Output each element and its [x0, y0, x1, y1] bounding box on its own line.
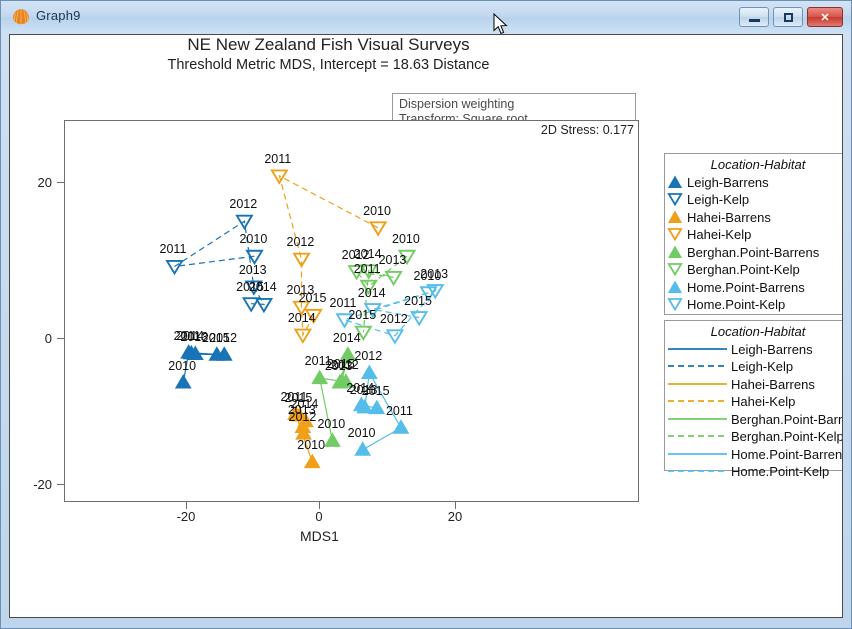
data-point-label: 2015	[362, 384, 390, 398]
legend-line-label: Leigh-Kelp	[731, 359, 793, 375]
line-swatch-solid-icon	[667, 447, 731, 463]
data-point-label: 2012	[380, 312, 408, 326]
graph-window: Graph9 ✕ NE New Zealand Fish Visual Surv…	[0, 0, 852, 629]
data-point-marker[interactable]	[305, 455, 320, 468]
legend-line-item-hahei-barrens[interactable]: Hahei-Barrens	[665, 376, 843, 394]
legend-symbol-item-home-point-barrens[interactable]: Home.Point-Barrens	[665, 279, 843, 297]
x-axis-label: MDS1	[300, 528, 339, 544]
legend-symbol-item-berghan-point-kelp[interactable]: Berghan.Point-Kelp	[665, 262, 843, 280]
data-point-marker[interactable]	[387, 330, 402, 343]
data-point-label: 2012	[287, 235, 315, 249]
legend-symbol-item-leigh-barrens[interactable]: Leigh-Barrens	[665, 174, 843, 192]
legend-symbol-item-leigh-kelp[interactable]: Leigh-Kelp	[665, 192, 843, 210]
legend-line-item-hahei-kelp[interactable]: Hahei-Kelp	[665, 394, 843, 412]
filled-up-triangle-icon	[667, 210, 687, 226]
data-point-label: 2011	[386, 404, 413, 418]
line-swatch-solid-icon	[667, 377, 731, 393]
data-point-label: 2015	[236, 280, 264, 294]
legend-symbol-label: Berghan.Point-Kelp	[687, 262, 800, 278]
legend-line-label: Hahei-Kelp	[731, 394, 795, 410]
legend-symbol-label: Leigh-Barrens	[687, 175, 769, 191]
ytick-mark--20	[57, 484, 64, 485]
chart-title: NE New Zealand Fish Visual Surveys	[10, 35, 647, 55]
xtick-label-0: 0	[299, 509, 339, 524]
filled-up-triangle-icon	[667, 245, 687, 261]
legend-line-item-leigh-barrens[interactable]: Leigh-Barrens	[665, 341, 843, 359]
legend-line-label: Hahei-Barrens	[731, 377, 815, 393]
line-swatch-dashed-icon	[667, 359, 731, 375]
data-point-label: 2010	[363, 204, 391, 218]
xtick-mark-0	[319, 502, 320, 509]
data-point-label: 2013	[239, 263, 267, 277]
legend-lines: Location-Habitat Leigh-BarrensLeigh-Kelp…	[664, 320, 843, 471]
legend-lines-title: Location-Habitat	[665, 321, 843, 341]
legend-line-item-home-point-kelp[interactable]: Home.Point-Kelp	[665, 464, 843, 482]
data-point-label: 2011	[264, 152, 291, 166]
data-point-label: 2015	[202, 331, 230, 345]
legend-line-label: Home.Point-Barrens	[731, 447, 843, 463]
data-point-label: 2011	[354, 262, 381, 276]
data-point-marker[interactable]	[176, 375, 191, 388]
legend-line-item-berghan-point-barrens[interactable]: Berghan.Point-Barrens	[665, 411, 843, 429]
mouse-cursor	[493, 13, 509, 37]
legend-symbol-item-hahei-barrens[interactable]: Hahei-Barrens	[665, 209, 843, 227]
minimize-icon	[740, 8, 768, 26]
data-point-label: 2014	[288, 311, 316, 325]
close-icon: ✕	[808, 8, 842, 26]
legend-symbol-label: Berghan.Point-Barrens	[687, 245, 819, 261]
plot-area: 2D Stress: 0.177 20102011201220132014201…	[64, 120, 639, 502]
filled-up-triangle-icon	[667, 280, 687, 296]
shell-icon	[12, 8, 30, 26]
legend-line-item-home-point-barrens[interactable]: Home.Point-Barrens	[665, 446, 843, 464]
close-button[interactable]: ✕	[807, 7, 843, 27]
legend-line-item-berghan-point-kelp[interactable]: Berghan.Point-Kelp	[665, 429, 843, 447]
info-line-dispersion: Dispersion weighting	[399, 97, 631, 112]
data-point-label: 2014	[176, 329, 204, 343]
filled-up-triangle-icon	[667, 175, 687, 191]
data-point-label: 2014	[333, 331, 361, 345]
data-point-label: 2010	[168, 359, 196, 373]
data-point-label: 2010	[297, 438, 325, 452]
open-down-triangle-icon	[667, 262, 687, 278]
data-point-marker[interactable]	[325, 433, 340, 446]
data-point-marker[interactable]	[362, 366, 377, 379]
data-point-label: 2011	[160, 242, 187, 256]
line-swatch-solid-icon	[667, 412, 731, 428]
xtick-mark-20	[455, 502, 456, 509]
data-point-label: 2013	[379, 253, 407, 267]
data-point-label: 2015	[348, 308, 376, 322]
data-point-label: 2015	[327, 357, 355, 371]
data-point-label: 2010	[392, 232, 420, 246]
minimize-button[interactable]	[739, 7, 769, 27]
data-point-label: 2012	[354, 349, 382, 363]
ytick-mark-20	[57, 182, 64, 183]
ytick-label-0: 0	[18, 331, 52, 346]
open-down-triangle-icon	[667, 227, 687, 243]
line-swatch-dashed-icon	[667, 429, 731, 445]
data-point-label: 2013	[420, 267, 448, 281]
maximize-button[interactable]	[773, 7, 803, 27]
data-point-label: 2014	[358, 286, 386, 300]
data-point-marker[interactable]	[256, 299, 271, 312]
legend-symbol-label: Home.Point-Kelp	[687, 297, 785, 313]
legend-line-label: Berghan.Point-Kelp	[731, 429, 843, 445]
legend-symbol-label: Home.Point-Barrens	[687, 280, 805, 296]
window-titlebar[interactable]: Graph9 ✕	[1, 1, 851, 32]
data-point-label: 2015	[299, 291, 327, 305]
legend-symbol-item-berghan-point-barrens[interactable]: Berghan.Point-Barrens	[665, 244, 843, 262]
line-swatch-dashed-icon	[667, 464, 731, 480]
data-point-marker[interactable]	[386, 272, 401, 285]
data-point-label: 2012	[229, 197, 257, 211]
ytick-label-20: 20	[18, 175, 52, 190]
legend-symbol-label: Hahei-Kelp	[687, 227, 751, 243]
data-point-label: 2010	[239, 232, 267, 246]
line-swatch-solid-icon	[667, 342, 731, 358]
xtick-mark--20	[186, 502, 187, 509]
legend-line-label: Home.Point-Kelp	[731, 464, 829, 480]
ytick-label--20: -20	[18, 477, 52, 492]
data-point-label: 2010	[348, 426, 376, 440]
data-point-label: 2015	[404, 294, 432, 308]
data-point-label: 2014	[354, 247, 382, 261]
legend-symbol-item-home-point-kelp[interactable]: Home.Point-Kelp	[665, 297, 843, 315]
graph-canvas: NE New Zealand Fish Visual Surveys Thres…	[9, 34, 843, 618]
line-swatch-dashed-icon	[667, 394, 731, 410]
legend-line-item-leigh-kelp[interactable]: Leigh-Kelp	[665, 359, 843, 377]
open-down-triangle-icon	[667, 192, 687, 208]
legend-symbols: Location-Habitat Leigh-BarrensLeigh-Kelp…	[664, 153, 843, 315]
data-point-label: 2015	[285, 391, 313, 405]
legend-symbol-item-hahei-kelp[interactable]: Hahei-Kelp	[665, 227, 843, 245]
xtick-label-20: 20	[435, 509, 475, 524]
legend-line-label: Leigh-Barrens	[731, 342, 813, 358]
chart-subtitle: Threshold Metric MDS, Intercept = 18.63 …	[10, 57, 647, 73]
data-point-marker[interactable]	[312, 371, 327, 384]
legend-line-label: Berghan.Point-Barrens	[731, 412, 843, 428]
legend-symbols-title: Location-Habitat	[665, 154, 843, 174]
open-down-triangle-icon	[667, 297, 687, 313]
data-point-label: 2011	[330, 296, 357, 310]
maximize-icon	[774, 8, 802, 26]
data-point-marker[interactable]	[167, 261, 182, 274]
xtick-label--20: -20	[166, 509, 206, 524]
legend-symbol-label: Hahei-Barrens	[687, 210, 771, 226]
data-point-marker[interactable]	[355, 442, 370, 455]
legend-symbol-label: Leigh-Kelp	[687, 192, 749, 208]
data-point-marker[interactable]	[371, 222, 386, 235]
ytick-mark-0	[57, 338, 64, 339]
window-title: Graph9	[36, 8, 81, 23]
data-point-marker[interactable]	[393, 420, 408, 433]
data-point-label: 2010	[317, 417, 345, 431]
